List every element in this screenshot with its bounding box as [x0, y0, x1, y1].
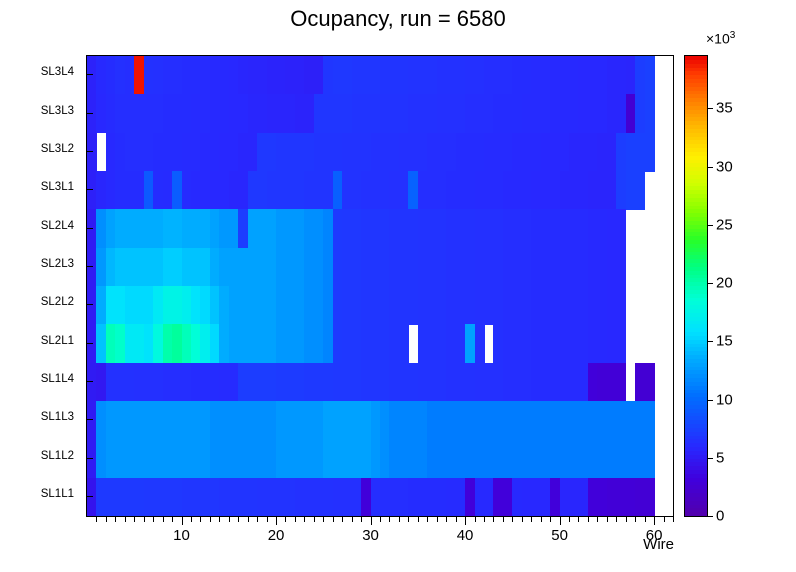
palette-exponent-power: 3	[730, 30, 736, 41]
x-axis-minor-tick	[172, 517, 173, 522]
x-axis-minor-tick	[361, 517, 362, 522]
y-axis-tick	[86, 496, 93, 497]
palette-tick	[708, 283, 713, 284]
heatmap-cells	[87, 56, 673, 516]
x-axis-minor-tick	[125, 517, 126, 522]
x-axis-minor-tick	[607, 517, 608, 522]
heatmap-cell	[645, 363, 655, 402]
x-axis-major-tick	[182, 517, 183, 525]
x-axis-minor-tick	[389, 517, 390, 522]
x-axis-major-tick	[276, 517, 277, 525]
x-axis-minor-tick	[134, 517, 135, 522]
heatmap-cell	[645, 401, 655, 440]
heatmap-cell	[645, 133, 655, 172]
y-axis-tick-label: SL3L1	[41, 181, 74, 193]
x-axis-major-tick	[371, 517, 372, 525]
x-axis-minor-tick	[352, 517, 353, 522]
chart-title: Ocupancy, run = 6580	[0, 6, 796, 32]
heatmap-cell	[616, 286, 626, 325]
y-axis-tick	[86, 266, 93, 267]
y-axis-tick-label: SL3L2	[41, 143, 74, 155]
y-axis-tick	[86, 343, 93, 344]
x-axis-minor-tick	[229, 517, 230, 522]
palette-tick-label: 35	[716, 100, 733, 117]
x-axis-minor-tick	[626, 517, 627, 522]
heatmap-cell	[399, 324, 409, 363]
palette-tick-label: 0	[716, 508, 724, 525]
heatmap-cell	[645, 439, 655, 478]
x-axis-minor-tick	[163, 517, 164, 522]
x-axis-minor-tick	[588, 517, 589, 522]
heatmap-plot-area	[86, 55, 674, 517]
heatmap-cell	[616, 363, 626, 402]
x-axis-minor-tick	[597, 517, 598, 522]
heatmap-cell	[616, 209, 626, 248]
x-axis-minor-tick	[191, 517, 192, 522]
y-axis-tick-label: SL1L2	[41, 450, 74, 462]
palette-tick	[708, 458, 713, 459]
x-axis-minor-tick	[115, 517, 116, 522]
x-axis-minor-tick	[144, 517, 145, 522]
palette-tick	[708, 225, 713, 226]
color-palette-bar	[684, 55, 708, 517]
y-axis-tick-label: SL3L3	[41, 105, 74, 117]
color-palette-axis: 05101520253035	[708, 55, 778, 517]
x-axis-minor-tick	[210, 517, 211, 522]
y-axis-tick-label: SL1L4	[41, 373, 74, 385]
x-axis-minor-tick	[493, 517, 494, 522]
y-axis-tick	[86, 74, 93, 75]
x-axis-minor-tick	[484, 517, 485, 522]
x-axis-minor-tick	[285, 517, 286, 522]
x-axis-minor-tick	[295, 517, 296, 522]
palette-tick-label: 25	[716, 216, 733, 233]
heatmap-cell	[635, 171, 645, 210]
x-axis-minor-tick	[673, 517, 674, 522]
palette-tick-label: 5	[716, 449, 724, 466]
heatmap-cell	[87, 133, 97, 172]
y-axis-tick-label: SL2L1	[41, 335, 74, 347]
y-axis-tick	[86, 113, 93, 114]
y-axis-tick	[86, 381, 93, 382]
y-axis-tick-label: SL2L3	[41, 258, 74, 270]
heatmap-cell	[645, 478, 655, 517]
x-axis-minor-tick	[418, 517, 419, 522]
y-axis-tick-label: SL1L1	[41, 488, 74, 500]
x-axis-minor-tick	[541, 517, 542, 522]
palette-tick	[708, 516, 713, 517]
x-axis-minor-tick	[475, 517, 476, 522]
heatmap-cell	[645, 94, 655, 133]
x-axis-minor-tick	[323, 517, 324, 522]
heatmap-cell	[475, 324, 485, 363]
x-axis-minor-tick	[333, 517, 334, 522]
x-axis-minor-tick	[456, 517, 457, 522]
x-axis-minor-tick	[200, 517, 201, 522]
x-axis-minor-tick	[437, 517, 438, 522]
x-axis-major-tick	[560, 517, 561, 525]
x-axis-minor-tick	[446, 517, 447, 522]
x-axis-major-tick	[465, 517, 466, 525]
x-axis-minor-tick	[267, 517, 268, 522]
y-axis-tick-label: SL2L2	[41, 296, 74, 308]
y-axis-tick-label: SL1L3	[41, 411, 74, 423]
x-axis-minor-tick	[257, 517, 258, 522]
heatmap-cell	[645, 56, 655, 95]
x-axis-minor-tick	[96, 517, 97, 522]
x-axis-minor-tick	[314, 517, 315, 522]
x-axis-minor-tick	[503, 517, 504, 522]
x-axis-minor-tick	[664, 517, 665, 522]
x-axis-minor-tick	[380, 517, 381, 522]
y-axis-labels: SL3L4SL3L3SL3L2SL3L1SL2L4SL2L3SL2L2SL2L1…	[0, 55, 82, 517]
x-axis-minor-tick	[427, 517, 428, 522]
x-axis-minor-tick	[153, 517, 154, 522]
y-axis-tick	[86, 419, 93, 420]
x-axis-minor-tick	[342, 517, 343, 522]
x-axis-minor-tick	[550, 517, 551, 522]
x-axis-minor-tick	[531, 517, 532, 522]
x-axis-minor-tick	[616, 517, 617, 522]
y-axis-tick	[86, 189, 93, 190]
x-axis-major-tick	[654, 517, 655, 525]
chart-root: Ocupancy, run = 6580 SL3L4SL3L3SL3L2SL3L…	[0, 0, 796, 572]
x-axis-minor-tick	[304, 517, 305, 522]
palette-tick	[708, 341, 713, 342]
x-axis-minor-tick	[569, 517, 570, 522]
palette-strip	[685, 512, 707, 517]
x-axis-title: Wire	[0, 536, 674, 553]
heatmap-cell	[616, 324, 626, 363]
palette-tick-label: 20	[716, 275, 733, 292]
palette-exponent-label: ×103	[706, 30, 735, 47]
palette-tick	[708, 108, 713, 109]
y-axis-tick-label: SL3L4	[41, 66, 74, 78]
x-axis-minor-tick	[399, 517, 400, 522]
y-axis-tick	[86, 228, 93, 229]
x-axis-minor-tick	[578, 517, 579, 522]
y-axis-tick	[86, 304, 93, 305]
palette-tick-label: 30	[716, 158, 733, 175]
x-axis-minor-tick	[219, 517, 220, 522]
palette-tick-label: 10	[716, 391, 733, 408]
palette-tick	[708, 167, 713, 168]
palette-exponent-base: ×10	[706, 31, 730, 47]
x-axis-minor-tick	[635, 517, 636, 522]
x-axis-minor-tick	[512, 517, 513, 522]
y-axis-tick	[86, 458, 93, 459]
y-axis-tick	[86, 151, 93, 152]
palette-tick-label: 15	[716, 333, 733, 350]
heatmap-cell	[616, 248, 626, 287]
x-axis-minor-tick	[522, 517, 523, 522]
x-axis-minor-tick	[106, 517, 107, 522]
x-axis-minor-tick	[248, 517, 249, 522]
x-axis-minor-tick	[238, 517, 239, 522]
y-axis-tick-label: SL2L4	[41, 220, 74, 232]
x-axis-minor-tick	[408, 517, 409, 522]
x-axis-minor-tick	[645, 517, 646, 522]
palette-tick	[708, 400, 713, 401]
